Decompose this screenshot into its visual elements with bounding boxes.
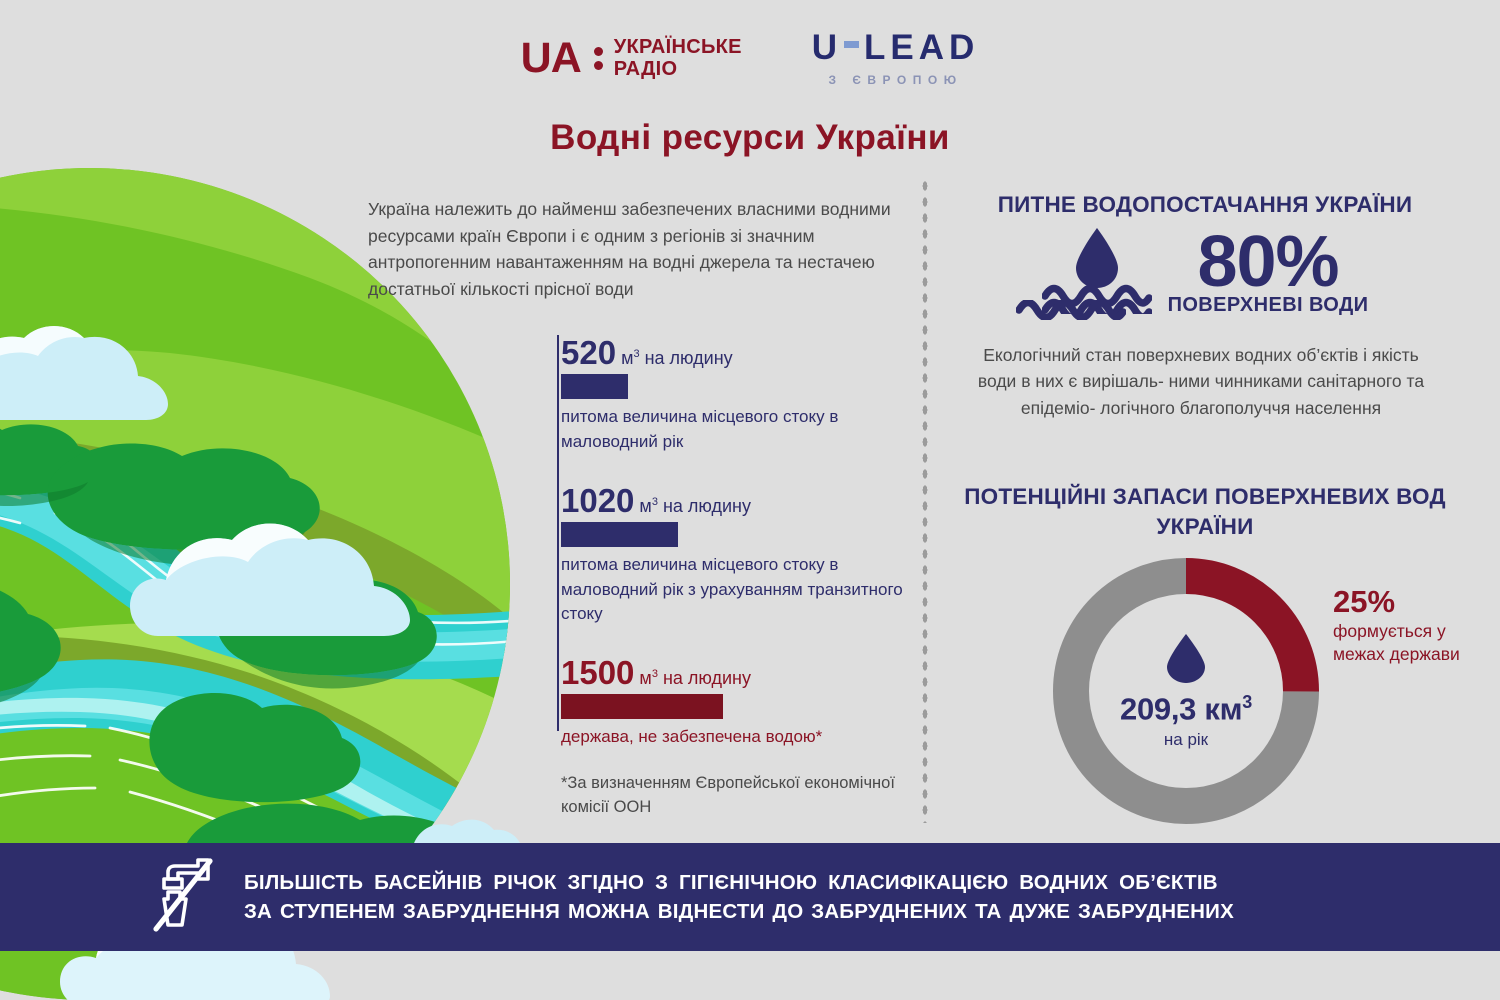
bar-description-520: питома величина місцевого стоку в малово…: [561, 405, 927, 454]
percent-caption: ПОВЕРХНЕВІ ВОДИ: [1168, 294, 1369, 317]
donut-center-labels: 209,3 км3 на рік: [1046, 551, 1326, 831]
donut-center-value: 209,3 км3: [1120, 693, 1252, 724]
ulead-logo: U LEAD З ЄВРОПОЮ: [812, 30, 980, 87]
footnote-text: *За визначенням Європейської економічної…: [561, 772, 901, 820]
water-per-capita-bar-chart: 520 м3 на людину питома величина місцево…: [557, 335, 927, 750]
intro-paragraph: Україна належить до найменш забезпечених…: [368, 196, 913, 302]
banner-line-2: ЗА СТУПЕНЕМ ЗАБРУДНЕННЯ МОЖНА ВІДНЕСТИ Д…: [244, 897, 1234, 926]
bar-fill-1500: [561, 694, 723, 719]
page-title: Водні ресурси України: [0, 118, 1500, 158]
bar-item-1020: 1020 м3 на людину питома величина місцев…: [561, 483, 927, 627]
drinking-water-heading: ПИТНЕ ВОДОПОСТАЧАННЯ УКРАЇНИ: [950, 192, 1460, 218]
bar-value-label: 520 м3 на людину: [561, 335, 927, 371]
percent-block: 80% ПОВЕРХНЕВІ ВОДИ: [1168, 228, 1369, 317]
bar-unit-label: м3 на людину: [616, 348, 733, 368]
no-tap-water-icon: [148, 855, 218, 940]
bar-unit-label: м3 на людину: [634, 668, 751, 688]
donut-legend-percent: 25%: [1333, 585, 1483, 619]
potential-reserves-heading: ПОТЕНЦІЙНІ ЗАПАСИ ПОВЕРХНЕВИХ ВОД УКРАЇН…: [950, 482, 1460, 541]
bar-value-label: 1500 м3 на людину: [561, 655, 927, 691]
ulead-subtitle: З ЄВРОПОЮ: [812, 73, 980, 87]
infographic-page: UA УКРАЇНСЬКЕ РАДІО U LEAD З ЄВРОПОЮ Вод…: [0, 0, 1500, 1000]
percent-value: 80%: [1168, 228, 1369, 296]
banner-line-1: БІЛЬШІСТЬ БАСЕЙНІВ РІЧОК ЗГІДНО З ГІГІЄН…: [244, 868, 1234, 897]
ulead-letter-u: U: [812, 30, 842, 65]
ua-logo-line2: РАДІО: [614, 59, 742, 81]
bottom-banner: БІЛЬШІСТЬ БАСЕЙНІВ РІЧОК ЗГІДНО З ГІГІЄН…: [0, 843, 1500, 951]
bar-chart-axis: [557, 335, 559, 731]
ua-logo-line1: УКРАЇНСЬКЕ: [614, 37, 742, 59]
bar-item-1500: 1500 м3 на людину держава, не забезпечен…: [561, 655, 927, 750]
water-waves-extra-icon: [1016, 300, 1126, 325]
ua-logo-wordmark: УКРАЇНСЬКЕ РАДІО: [614, 37, 742, 80]
donut-water-drop-icon: [1165, 632, 1207, 689]
bar-unit-label: м3 на людину: [634, 496, 751, 516]
bar-value-label: 1020 м3 на людину: [561, 483, 927, 519]
bar-description-1020: питома величина місцевого стоку в малово…: [561, 553, 927, 627]
banner-text: БІЛЬШІСТЬ БАСЕЙНІВ РІЧОК ЗГІДНО З ГІГІЄН…: [244, 868, 1234, 926]
ua-radio-logo: UA УКРАЇНСЬКЕ РАДІО: [521, 37, 742, 80]
bar-fill-520: [561, 374, 628, 399]
ulead-wordmark: U LEAD: [812, 30, 980, 65]
donut-center-subtitle: на рік: [1164, 730, 1208, 750]
ulead-letters-lead: LEAD: [864, 30, 979, 65]
donut-legend-text: формується у межах держави: [1333, 620, 1483, 667]
logo-bar: UA УКРАЇНСЬКЕ РАДІО U LEAD З ЄВРОПОЮ: [0, 30, 1500, 87]
bar-fill-1020: [561, 522, 678, 547]
ua-logo-colon-icon: [594, 47, 603, 70]
bar-description-1500: держава, не забезпечена водою*: [561, 725, 927, 750]
ulead-dash-icon: [844, 41, 859, 48]
surface-water-paragraph: Екологічний стан поверхневих водних об’є…: [975, 342, 1427, 421]
donut-legend-25: 25% формується у межах держави: [1333, 585, 1483, 667]
bar-item-520: 520 м3 на людину питома величина місцево…: [561, 335, 927, 455]
ua-logo-mark: UA: [521, 37, 581, 80]
